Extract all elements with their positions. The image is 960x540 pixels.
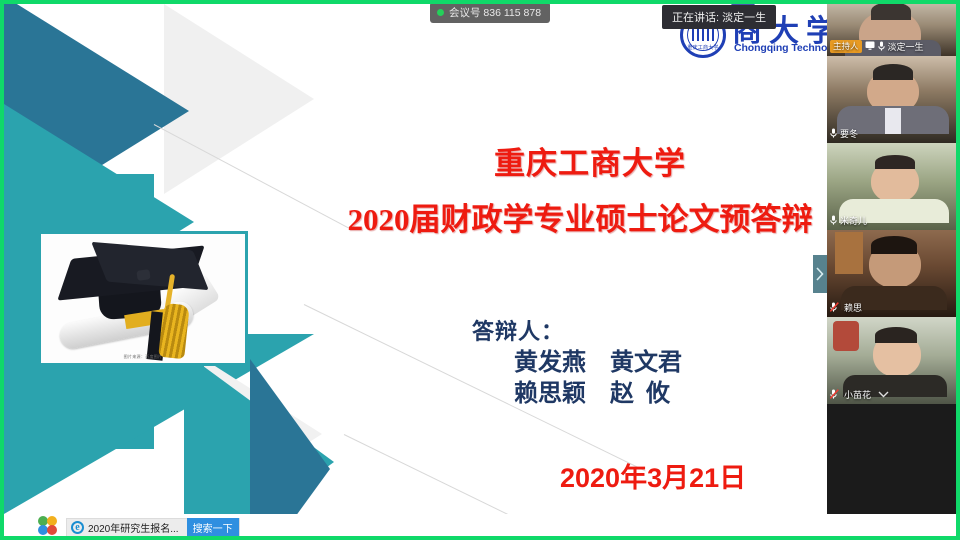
collapse-video-panel-button[interactable]: [813, 255, 827, 293]
slide-date: 2020年3月21日: [560, 456, 746, 495]
presenter-row: 赖思颖 赵 攸: [514, 379, 682, 410]
active-speaker-tooltip: 正在讲话: 淡定一生: [662, 5, 776, 29]
internet-explorer-icon: e: [71, 521, 84, 534]
meeting-id-label: 会议号 836 115 878: [449, 5, 541, 20]
video-nameplate: 赖思: [827, 300, 960, 315]
slide-title-line1: 重庆工商大学: [4, 138, 956, 183]
university-seal-text: 重庆工商大学: [683, 44, 723, 51]
video-nameplate: 要冬: [827, 126, 960, 141]
microphone-icon: [830, 215, 837, 227]
participant-name: 米奇儿: [840, 214, 867, 227]
video-tile[interactable]: 小苗花: [827, 317, 960, 404]
taskbar-item-ie[interactable]: e 2020年研究生报名... 搜索一下: [66, 518, 240, 537]
video-nameplate: 米奇儿: [827, 213, 960, 228]
video-nameplate: 小苗花: [827, 387, 960, 402]
taskbar: e 2020年研究生报名... 搜索一下: [0, 514, 960, 540]
presenter-block: 答辩人： 黄发燕 黄文君 赖思颖 赵 攸: [472, 314, 682, 409]
microphone-icon: [830, 128, 837, 140]
participant-name: 要冬: [840, 127, 858, 140]
graduation-cap-image: 图片来源：百度图片: [38, 231, 248, 366]
presenter-label: 答辩人：: [472, 314, 682, 346]
presenter-row: 黄发燕 黄文君: [514, 348, 682, 379]
presenter-names: 黄发燕 黄文君 赖思颖 赵 攸: [514, 348, 682, 409]
microphone-muted-icon: [830, 302, 841, 314]
video-tile[interactable]: 米奇儿: [827, 143, 960, 230]
participant-name: 小苗花: [844, 388, 871, 401]
screen: 图片来源：百度图片 重庆工商大学 2020届财政学专业硕士论文预答辩 答辩人： …: [0, 0, 960, 540]
microphone-icon: [878, 41, 885, 53]
participant-video-panel: 主持人 淡定一生 要冬: [827, 0, 960, 515]
video-tile[interactable]: 主持人 淡定一生: [827, 0, 960, 56]
image-caption: 图片来源：百度图片: [41, 354, 245, 360]
screen-share-icon: [865, 41, 875, 52]
host-badge: 主持人: [830, 40, 862, 52]
search-button[interactable]: 搜索一下: [187, 518, 239, 537]
decor-blue-triangle-mid: [250, 359, 330, 514]
slide-title-line2: 2020届财政学专业硕士论文预答辩: [4, 194, 956, 239]
participant-name: 赖思: [844, 301, 862, 314]
microphone-muted-icon: [830, 389, 841, 401]
video-nameplate: 主持人 淡定一生: [827, 39, 960, 54]
app-launcher-icon[interactable]: [38, 516, 60, 537]
video-tile[interactable]: 要冬: [827, 56, 960, 143]
meeting-id-badge[interactable]: 会议号 836 115 878: [430, 2, 550, 23]
participant-name: 淡定一生: [888, 40, 924, 53]
video-tile[interactable]: 赖思: [827, 230, 960, 317]
taskbar-item-label: 2020年研究生报名...: [88, 520, 179, 535]
recording-dot-icon: [437, 9, 444, 16]
chevron-down-icon[interactable]: [878, 390, 889, 400]
